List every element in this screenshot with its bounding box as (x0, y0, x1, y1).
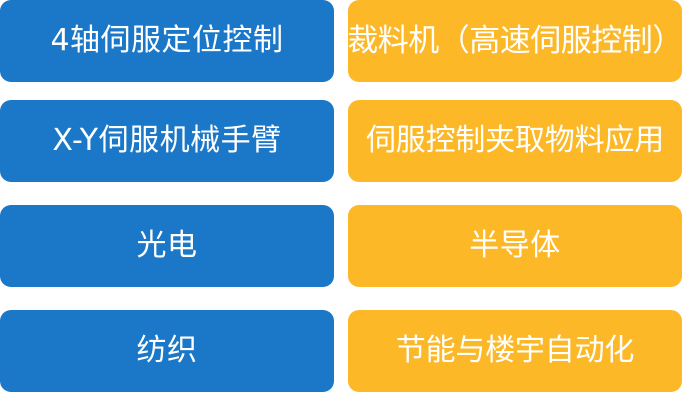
grid-item-label: 半导体 (469, 231, 561, 261)
grid-item-building-automation[interactable]: 节能与楼宇自动化 (348, 310, 682, 392)
grid-item-xy-robot-arm[interactable]: X-Y伺服机械手臂 (0, 100, 334, 182)
grid-item-semiconductor[interactable]: 半导体 (348, 205, 682, 287)
grid-row: 纺织 节能与楼宇自动化 (0, 310, 686, 392)
grid-item-label: 裁料机（高速伺服控制） (347, 26, 683, 57)
grid-item-material-pickup[interactable]: 伺服控制夹取物料应用 (348, 100, 682, 182)
grid-item-optoelectronics[interactable]: 光电 (0, 205, 334, 287)
grid-row: 4轴伺服定位控制 裁料机（高速伺服控制） (0, 0, 686, 82)
grid-row: 光电 半导体 (0, 205, 686, 287)
grid-row: X-Y伺服机械手臂 伺服控制夹取物料应用 (0, 100, 686, 182)
grid-item-cutting-machine[interactable]: 裁料机（高速伺服控制） (348, 0, 682, 82)
grid-item-label: 纺织 (137, 336, 198, 366)
grid-item-label: 4轴伺服定位控制 (50, 26, 283, 56)
grid-item-label: X-Y伺服机械手臂 (52, 126, 281, 156)
grid-item-label: 光电 (137, 231, 198, 261)
grid-item-servo-4-axis[interactable]: 4轴伺服定位控制 (0, 0, 334, 82)
application-grid: 4轴伺服定位控制 裁料机（高速伺服控制） X-Y伺服机械手臂 伺服控制夹取物料应… (0, 0, 686, 401)
grid-item-label: 节能与楼宇自动化 (396, 336, 634, 366)
grid-item-label: 伺服控制夹取物料应用 (366, 126, 664, 156)
grid-item-textile[interactable]: 纺织 (0, 310, 334, 392)
